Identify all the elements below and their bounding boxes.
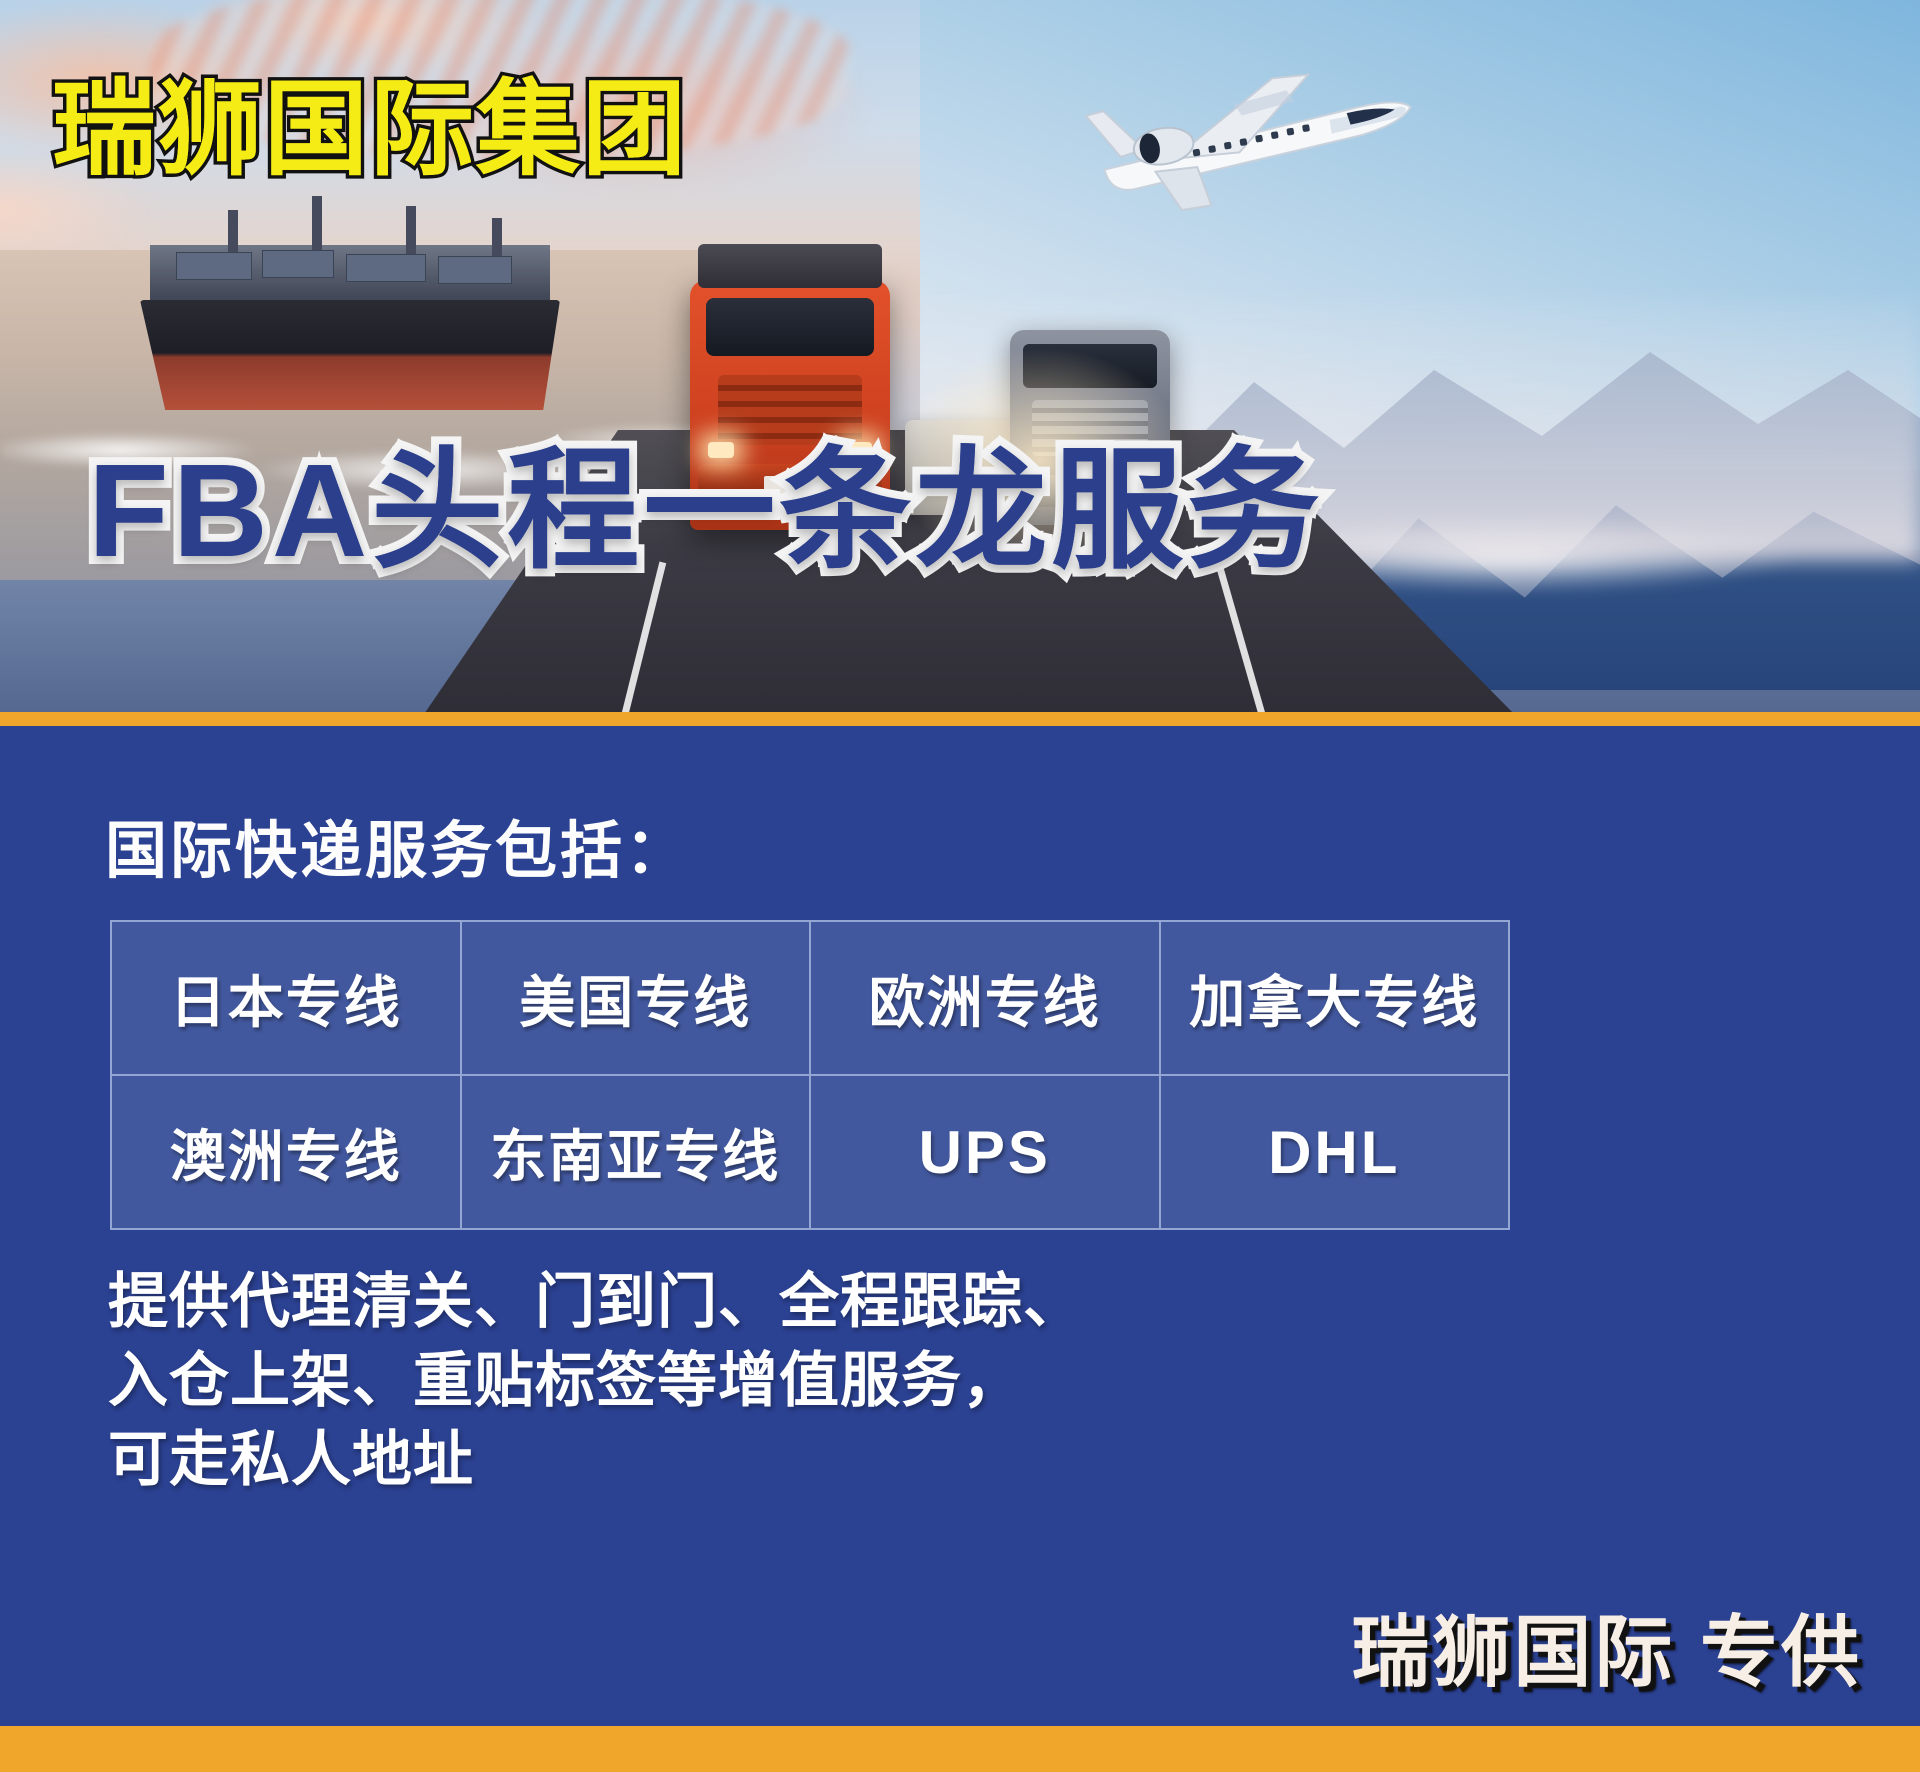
hero-image: 瑞狮国际集团 瑞狮国际集团 FBA头程一条龙服务 FBA头程一条龙服务 [0,0,1920,720]
description-line-1: 提供代理清关、门到门、全程跟踪、 [108,1262,1084,1341]
hero-headline: FBA头程一条龙服务 [88,440,1323,583]
service-cell-southeast-asia[interactable]: 东南亚专线 [461,1075,811,1229]
gold-divider-top [0,712,1920,726]
section-title: 国际快递服务包括： [105,800,690,890]
gold-divider-bottom [0,1726,1920,1772]
description-line-2: 入仓上架、重贴标签等增值服务， [108,1341,1084,1420]
service-cell-australia[interactable]: 澳洲专线 [111,1075,461,1229]
table-row: 日本专线 美国专线 欧洲专线 加拿大专线 [111,921,1509,1075]
service-cell-japan[interactable]: 日本专线 [111,921,461,1075]
service-cell-europe[interactable]: 欧洲专线 [810,921,1160,1075]
service-cell-ups[interactable]: UPS [810,1075,1160,1229]
company-logo: 瑞狮国际集团 [52,78,688,182]
services-description: 提供代理清关、门到门、全程跟踪、 入仓上架、重贴标签等增值服务， 可走私人地址 [108,1262,1084,1500]
service-cell-dhl[interactable]: DHL [1160,1075,1510,1229]
footer-brand-note: 瑞狮国际 专供 [1351,1590,1862,1702]
description-line-3: 可走私人地址 [108,1420,1084,1499]
service-cell-canada[interactable]: 加拿大专线 [1160,921,1510,1075]
services-table: 日本专线 美国专线 欧洲专线 加拿大专线 澳洲专线 东南亚专线 UPS DHL [110,920,1510,1230]
table-row: 澳洲专线 东南亚专线 UPS DHL [111,1075,1509,1229]
service-cell-usa[interactable]: 美国专线 [461,921,811,1075]
airplane-icon [1030,30,1450,230]
poster-root: 瑞狮国际集团 瑞狮国际集团 FBA头程一条龙服务 FBA头程一条龙服务 国际快递… [0,0,1920,1772]
